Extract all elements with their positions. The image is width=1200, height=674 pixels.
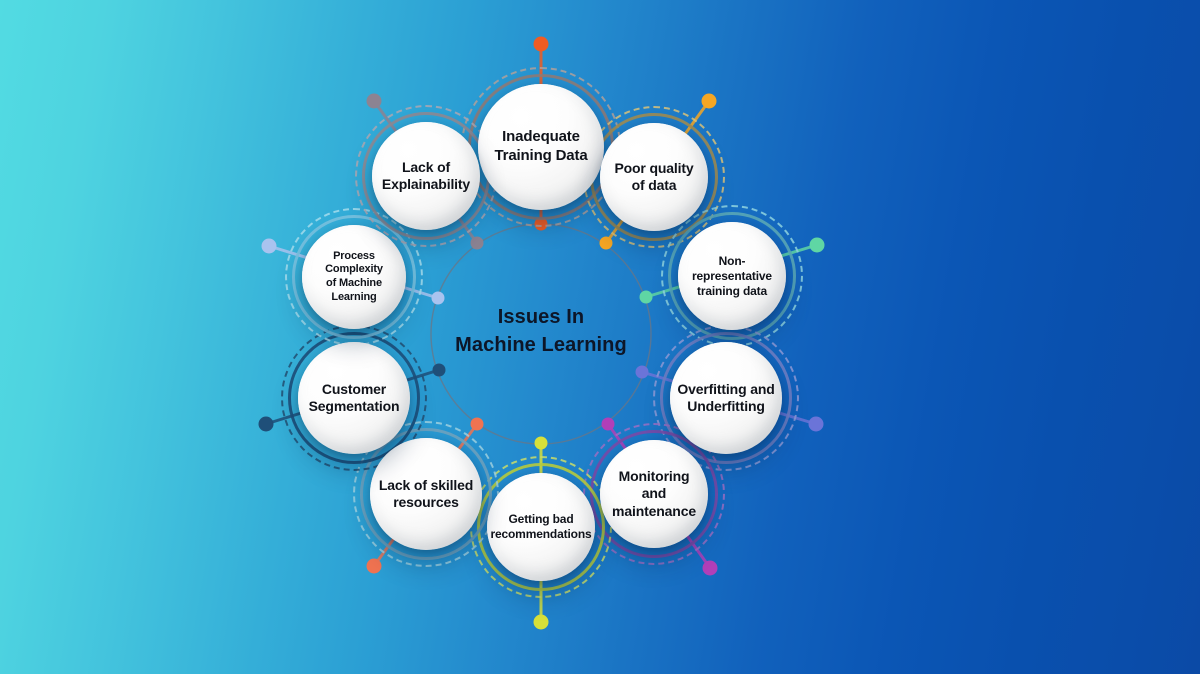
node-label-line-2: of Machine Learning [308,277,400,305]
node-label-line-1: Customer [309,381,400,399]
node-label-line-2: maintenance [606,503,702,521]
node-label: Lack ofExplainability [376,159,476,194]
node-label-line-1: Inadequate [494,128,587,147]
node-label: InadequateTraining Data [488,128,593,166]
node-label-line-2: training data [684,284,780,299]
connector-dot [702,94,717,109]
node-label: Overfitting andUnderfitting [671,381,780,416]
node-label-line-1: Non-representative [684,254,780,284]
node-label-line-2: recommendations [490,527,591,542]
node-getting-bad-recommendations[interactable]: Getting badrecommendations [487,473,595,581]
node-label-line-2: of data [614,177,693,195]
node-label-line-1: Overfitting and [677,381,774,399]
node-lack-of-skilled-resources[interactable]: Lack of skilledresources [370,438,482,550]
connector-dot [703,561,718,576]
node-label: Monitoring andmaintenance [600,468,708,521]
node-label: Lack of skilledresources [373,477,479,512]
node-label: Non-representativetraining data [678,254,786,299]
node-overfitting-and-underfitting[interactable]: Overfitting andUnderfitting [670,342,782,454]
connector-dot [535,218,548,231]
node-non-representative-training-data[interactable]: Non-representativetraining data [678,222,786,330]
node-label: CustomerSegmentation [303,381,406,416]
connector-dot [535,437,548,450]
node-label-line-1: Process Complexity [308,250,400,278]
connector-dot [534,615,549,630]
connector-dot [367,559,382,574]
connector-dot [367,94,382,109]
node-label-line-2: Training Data [494,147,587,166]
connector-dot [259,417,274,432]
node-label: Getting badrecommendations [484,512,597,542]
node-customer-segmentation[interactable]: CustomerSegmentation [298,342,410,454]
connector-dot [534,37,549,52]
connector-dot [602,418,615,431]
node-lack-of-explainability[interactable]: Lack ofExplainability [372,122,480,230]
node-label-line-2: resources [379,494,473,512]
connector-dot [810,238,825,253]
node-label-line-2: Segmentation [309,398,400,416]
connector-dot [471,418,484,431]
node-label-line-1: Monitoring and [606,468,702,503]
node-poor-quality-of-data[interactable]: Poor qualityof data [600,123,708,231]
node-label-line-2: Underfitting [677,398,774,416]
connector-dot [809,417,824,432]
connector-dot [432,292,445,305]
node-label-line-1: Lack of skilled [379,477,473,495]
node-process-complexity-of-machine-learning[interactable]: Process Complexityof Machine Learning [302,225,406,329]
node-inadequate-training-data[interactable]: InadequateTraining Data [478,84,604,210]
connector-dot [262,239,277,254]
node-label-line-1: Poor quality [614,160,693,178]
node-label-line-2: Explainability [382,176,470,194]
connector-dot [471,237,484,250]
node-label: Process Complexityof Machine Learning [302,250,406,305]
connector-dot [433,364,446,377]
node-label-line-1: Lack of [382,159,470,177]
center-title: Issues In Machine Learning [401,304,681,359]
node-label-line-1: Getting bad [490,512,591,527]
connector-dot [640,291,653,304]
center-title-line-1: Issues In [401,304,681,332]
center-title-line-2: Machine Learning [401,332,681,360]
node-label: Poor qualityof data [608,160,699,195]
connector-dot [600,237,613,250]
diagram-canvas: InadequateTraining DataPoor qualityof da… [0,0,1200,674]
connector-dot [636,366,649,379]
node-monitoring-and-maintenance[interactable]: Monitoring andmaintenance [600,440,708,548]
